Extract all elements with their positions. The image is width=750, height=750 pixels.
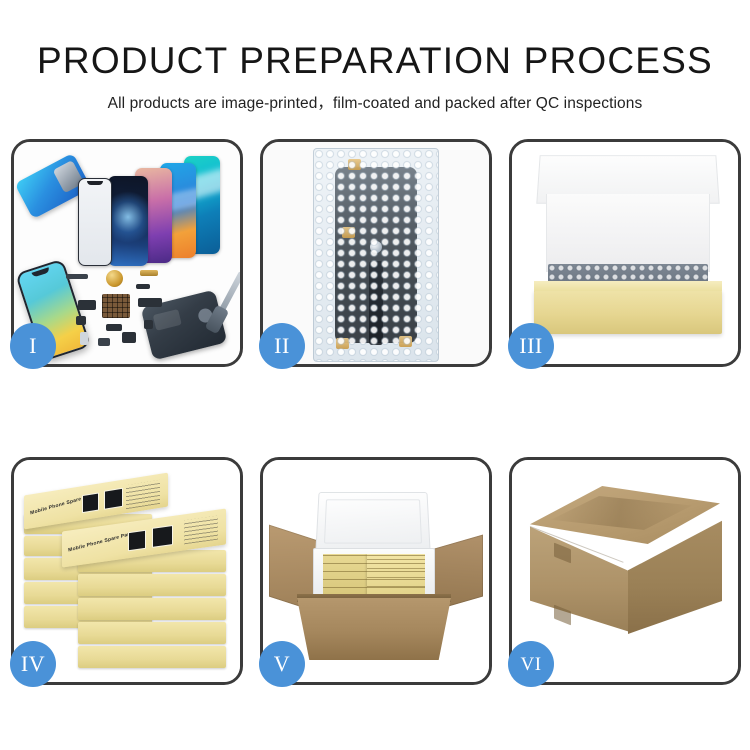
step-panel-4[interactable]: Mobile Phone Spare Parts Mobile Phone Sp… (11, 457, 243, 685)
product-preparation-infographic: PRODUCT PREPARATION PROCESS All products… (0, 0, 750, 750)
box-window-2 (104, 488, 123, 510)
spare-part-flex-3 (138, 298, 162, 307)
packed-yellow-boxes (323, 554, 425, 596)
process-steps-grid: I II (11, 139, 741, 687)
step-badge-2: II (259, 323, 305, 369)
box-spec-text-lines (126, 480, 160, 509)
vibration-motor-icon (106, 270, 123, 287)
bubble-wrap-bag-icon (313, 148, 439, 362)
step-badge-6: VI (508, 641, 554, 687)
carton-front-panel (297, 598, 451, 660)
box-window-2 (152, 525, 173, 548)
spare-part-connector (140, 270, 158, 276)
box-spec-text-lines (184, 516, 218, 545)
foam-lid (315, 492, 430, 552)
stacked-box (78, 598, 226, 620)
packed-box-top (367, 554, 425, 596)
spare-part-flex-2 (78, 300, 96, 310)
box-window-1 (82, 493, 99, 514)
ic-chip-icon (102, 294, 130, 318)
stacked-box (78, 574, 226, 596)
phone-notch-icon (87, 181, 103, 185)
page-title: PRODUCT PREPARATION PROCESS (0, 38, 750, 84)
step-panel-2[interactable]: II (260, 139, 492, 367)
box-print-label: Mobile Phone Spare Parts (68, 530, 135, 553)
step-panel-3[interactable]: III (509, 139, 741, 367)
phone-device-2 (108, 176, 148, 266)
step-badge-3: III (508, 323, 554, 369)
phone-device-1 (78, 178, 112, 266)
spare-part-sim-tray (80, 332, 88, 345)
bubble-texture (314, 149, 438, 361)
header: PRODUCT PREPARATION PROCESS All products… (0, 38, 750, 113)
screwdriver-icon (218, 271, 240, 314)
phone-lineup-icon (42, 156, 222, 261)
box-window-1 (128, 530, 146, 552)
step-panel-1[interactable]: I (11, 139, 243, 367)
spare-part-camera (122, 332, 136, 343)
step-panel-5[interactable]: V (260, 457, 492, 685)
inner-box-front-panel (534, 290, 722, 334)
stacked-box (78, 622, 226, 644)
spare-part-button (76, 316, 86, 325)
spare-part-screw-set (144, 320, 153, 329)
spare-part-antenna (66, 274, 88, 279)
box-stack-icon: Mobile Phone Spare Parts Mobile Phone Sp… (22, 478, 234, 674)
spare-part-bracket (98, 338, 110, 346)
spare-part-flex-1 (136, 284, 150, 289)
inner-box-back-panel (546, 194, 710, 272)
step-panel-6[interactable]: VI (509, 457, 741, 685)
stacked-box (78, 646, 226, 668)
step-badge-5: V (259, 641, 305, 687)
step-badge-4: IV (10, 641, 56, 687)
page-subtitle: All products are image-printed，film-coat… (0, 91, 750, 113)
spare-part-speaker (106, 324, 122, 331)
step-badge-1: I (10, 323, 56, 369)
